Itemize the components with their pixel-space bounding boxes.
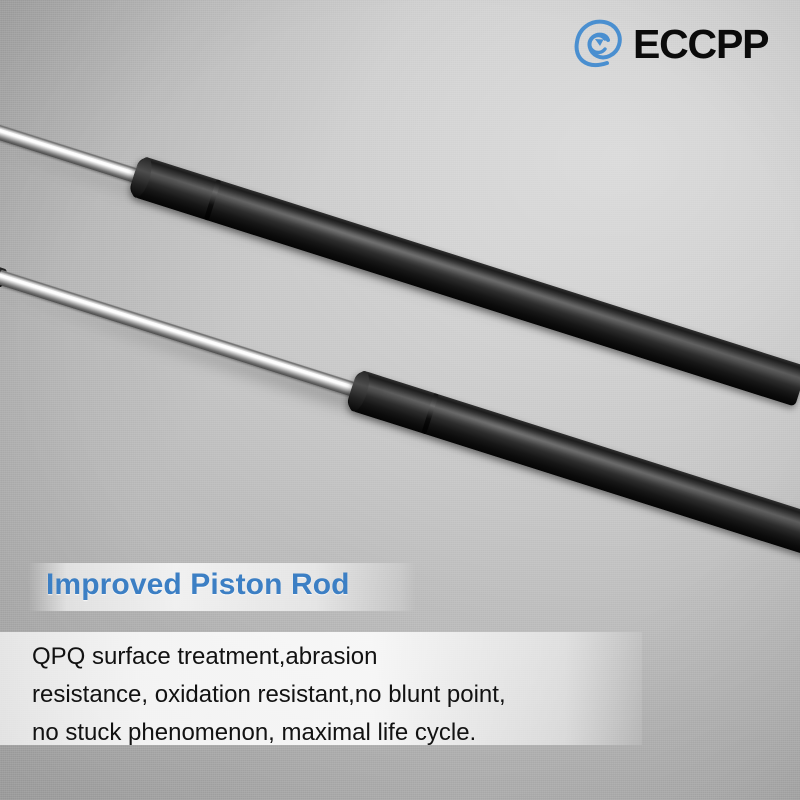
- feature-description: QPQ surface treatment,abrasion resistanc…: [32, 638, 652, 752]
- brand-logo: ECCPP: [572, 18, 768, 70]
- headline-text: Improved Piston Rod: [46, 568, 350, 602]
- hexagon-spiral-refresh-icon: [572, 18, 624, 70]
- brand-wordmark: ECCPP: [633, 24, 768, 65]
- feature-line-2: resistance, oxidation resistant,no blunt…: [32, 676, 652, 714]
- feature-line-1: QPQ surface treatment,abrasion: [32, 638, 652, 676]
- feature-line-3: no stuck phenomenon, maximal life cycle.: [32, 714, 652, 752]
- product-marketing-image: ECCPP Improved Piston Rod QPQ surface tr…: [0, 0, 800, 800]
